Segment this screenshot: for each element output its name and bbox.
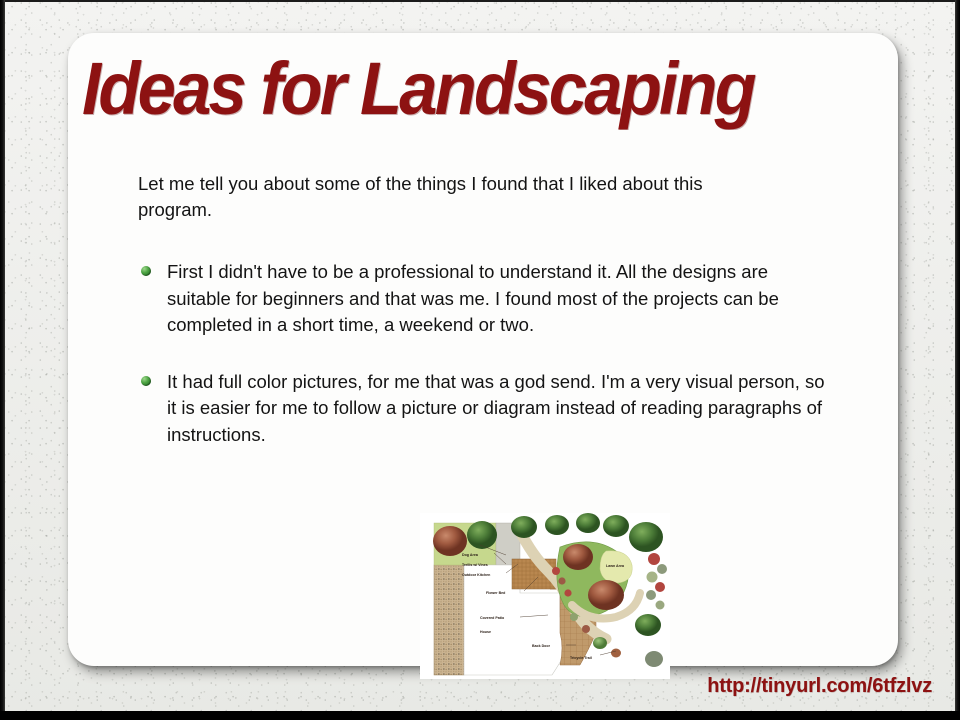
plan-label-back-door: Back Door (532, 644, 551, 648)
plan-label-tricycle-trail: Tricycle Trail (570, 656, 592, 660)
slide-stage: Ideas for Landscaping Let me tell you ab… (0, 0, 960, 720)
plan-label-outdoor-kitchen: Outdoor Kitchen (462, 573, 490, 577)
list-item-text: First I didn't have to be a professional… (167, 261, 779, 335)
landscape-plan-svg: Dog Area Trellis w/ Vines Outdoor Kitche… (420, 513, 670, 679)
plan-label-dog-area: Dog Area (462, 553, 479, 557)
green-sphere-bullet-icon (141, 376, 151, 386)
intro-paragraph: Let me tell you about some of the things… (138, 171, 778, 223)
plan-label-trellis: Trellis w/ Vines (462, 563, 488, 567)
list-item: First I didn't have to be a professional… (138, 259, 827, 339)
footer-url[interactable]: http://tinyurl.com/6tfzlvz (707, 675, 932, 698)
body-region: Let me tell you about some of the things… (138, 171, 858, 478)
frame-edge-left (0, 0, 5, 720)
plan-label-flower-bed: Flower Bed (486, 591, 505, 595)
list-item: It had full color pictures, for me that … (138, 369, 827, 449)
plan-label-lawn-area: Lawn Area (606, 564, 625, 568)
frame-edge-bottom (0, 711, 960, 720)
frame-edge-top (0, 0, 960, 2)
frame-edge-right (955, 0, 960, 720)
plan-label-covered-patio: Covered Patio (480, 616, 505, 620)
plan-label-house: House (480, 630, 491, 634)
page-title: Ideas for Landscaping (82, 41, 900, 137)
green-sphere-bullet-icon (141, 266, 151, 276)
content-card: Ideas for Landscaping Let me tell you ab… (68, 33, 898, 666)
landscape-plan-image: Dog Area Trellis w/ Vines Outdoor Kitche… (420, 513, 670, 679)
list-item-text: It had full color pictures, for me that … (167, 371, 825, 445)
bullet-list: First I didn't have to be a professional… (138, 259, 858, 448)
